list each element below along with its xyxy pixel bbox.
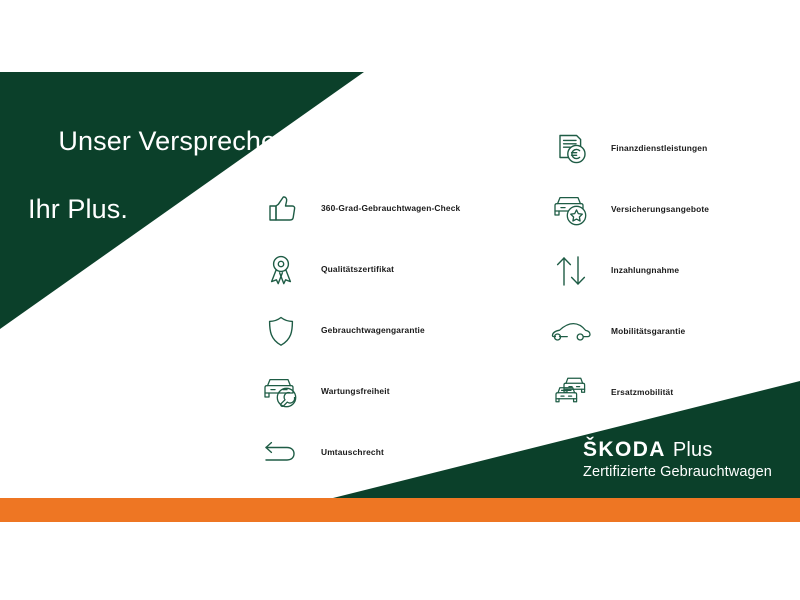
skoda-plus-logo: ŠKODA Plus Zertifizierte Gebrauchtwagen [583,438,772,481]
promo-banner: Unser Versprechen. Ihr Plus. 360-Grad-Ge… [0,0,800,600]
feature-label: Umtauschrecht [321,447,384,458]
car-wrench-icon [255,366,307,418]
two-cars-icon [545,367,597,419]
feature-label: Qualitätszertifikat [321,264,394,275]
feature-label: Gebrauchtwagengarantie [321,325,425,336]
feature-item-insurance-offers: Versicherungsangebote [545,179,795,240]
feature-item-replacement-mobility: Ersatzmobilität [545,362,795,423]
headline-line-1: Unser Versprechen. [58,126,298,156]
feature-item-mobility-guarantee: Mobilitätsgarantie [545,301,795,362]
feature-item-warranty: Gebrauchtwagengarantie [255,300,505,361]
car-star-icon [545,184,597,236]
logo-tagline: Zertifizierte Gebrauchtwagen [583,463,772,481]
feature-label: Wartungsfreiheit [321,386,390,397]
feature-item-360-check: 360-Grad-Gebrauchtwagen-Check [255,178,505,239]
car-side-icon [545,306,597,358]
feature-item-exchange-right: Umtauschrecht [255,422,505,483]
shield-icon [255,305,307,357]
feature-item-financial-services: Finanzdienstleistungen [545,118,795,179]
feature-label: Versicherungsangebote [611,204,709,215]
feature-label: Inzahlungnahme [611,265,679,276]
feature-label: Ersatzmobilität [611,387,673,398]
feature-item-trade-in: Inzahlungnahme [545,240,795,301]
skoda-wordmark: ŠKODA [583,438,666,461]
feature-item-maintenance-free: Wartungsfreiheit [255,361,505,422]
document-euro-icon [545,123,597,175]
plus-wordmark: Plus [673,439,713,461]
logo-wordmark-row: ŠKODA Plus [583,438,772,461]
feature-item-quality-certificate: Qualitätszertifikat [255,239,505,300]
feature-list-left: 360-Grad-Gebrauchtwagen-Check Qualitätsz… [255,178,505,483]
orange-bar [0,498,800,522]
thumbs-up-icon [255,183,307,235]
feature-label: Finanzdienstleistungen [611,143,707,154]
feature-label: 360-Grad-Gebrauchtwagen-Check [321,203,460,214]
award-rosette-icon [255,244,307,296]
feature-label: Mobilitätsgarantie [611,326,685,337]
return-arrow-icon [255,427,307,479]
feature-list-right: Finanzdienstleistungen Versicherungsange… [545,118,795,423]
up-down-arrows-icon [545,245,597,297]
